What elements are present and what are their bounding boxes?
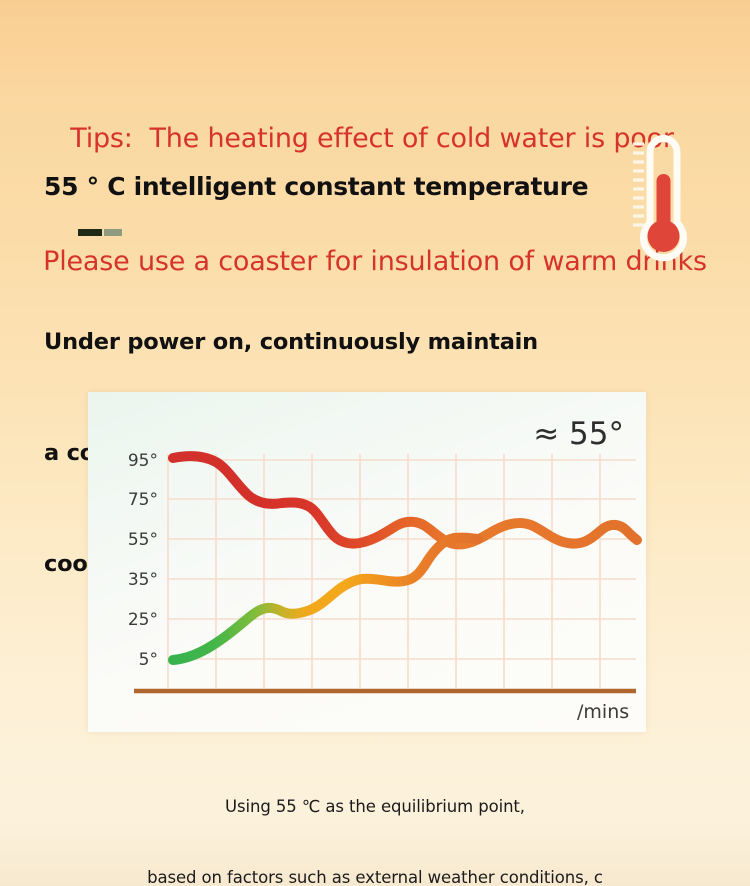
temperature-chart: 95° 75° 55° 35° 25° 5° ≈ 55° /mins xyxy=(88,392,646,732)
y-tick-label: 95° xyxy=(128,451,158,471)
y-tick-label: 55° xyxy=(128,530,158,550)
hot-water-curve xyxy=(173,456,637,544)
thermometer-ticks xyxy=(633,144,644,225)
y-tick-label: 75° xyxy=(128,490,158,510)
x-axis-unit-label: /mins xyxy=(577,701,629,723)
equilibrium-annotation: ≈ 55° xyxy=(533,416,624,452)
divider-segment-dark xyxy=(78,229,102,236)
y-tick-label: 25° xyxy=(128,610,158,630)
chart-caption: Using 55 ℃ as the equilibrium point, bas… xyxy=(0,748,750,886)
y-tick-label: 5° xyxy=(139,650,158,670)
thermometer-icon xyxy=(617,130,717,265)
green-dash-divider xyxy=(78,229,122,236)
cold-water-curve xyxy=(173,538,478,660)
thermometer-bulb xyxy=(648,220,680,252)
page-title: 55 ° C intelligent constant temperature xyxy=(44,172,588,201)
y-tick-label: 35° xyxy=(128,570,158,590)
caption-line-2: based on factors such as external weathe… xyxy=(0,866,750,886)
divider-segment-light xyxy=(104,229,122,236)
caption-line-1: Using 55 ℃ as the equilibrium point, xyxy=(0,795,750,819)
temperature-chart-panel: 95° 75° 55° 35° 25° 5° ≈ 55° /mins xyxy=(88,392,646,732)
description-line-1: Under power on, continuously maintain xyxy=(44,324,559,361)
chart-y-axis-labels: 95° 75° 55° 35° 25° 5° xyxy=(128,451,158,670)
product-infographic: Tips: The heating effect of cold water i… xyxy=(0,0,750,886)
